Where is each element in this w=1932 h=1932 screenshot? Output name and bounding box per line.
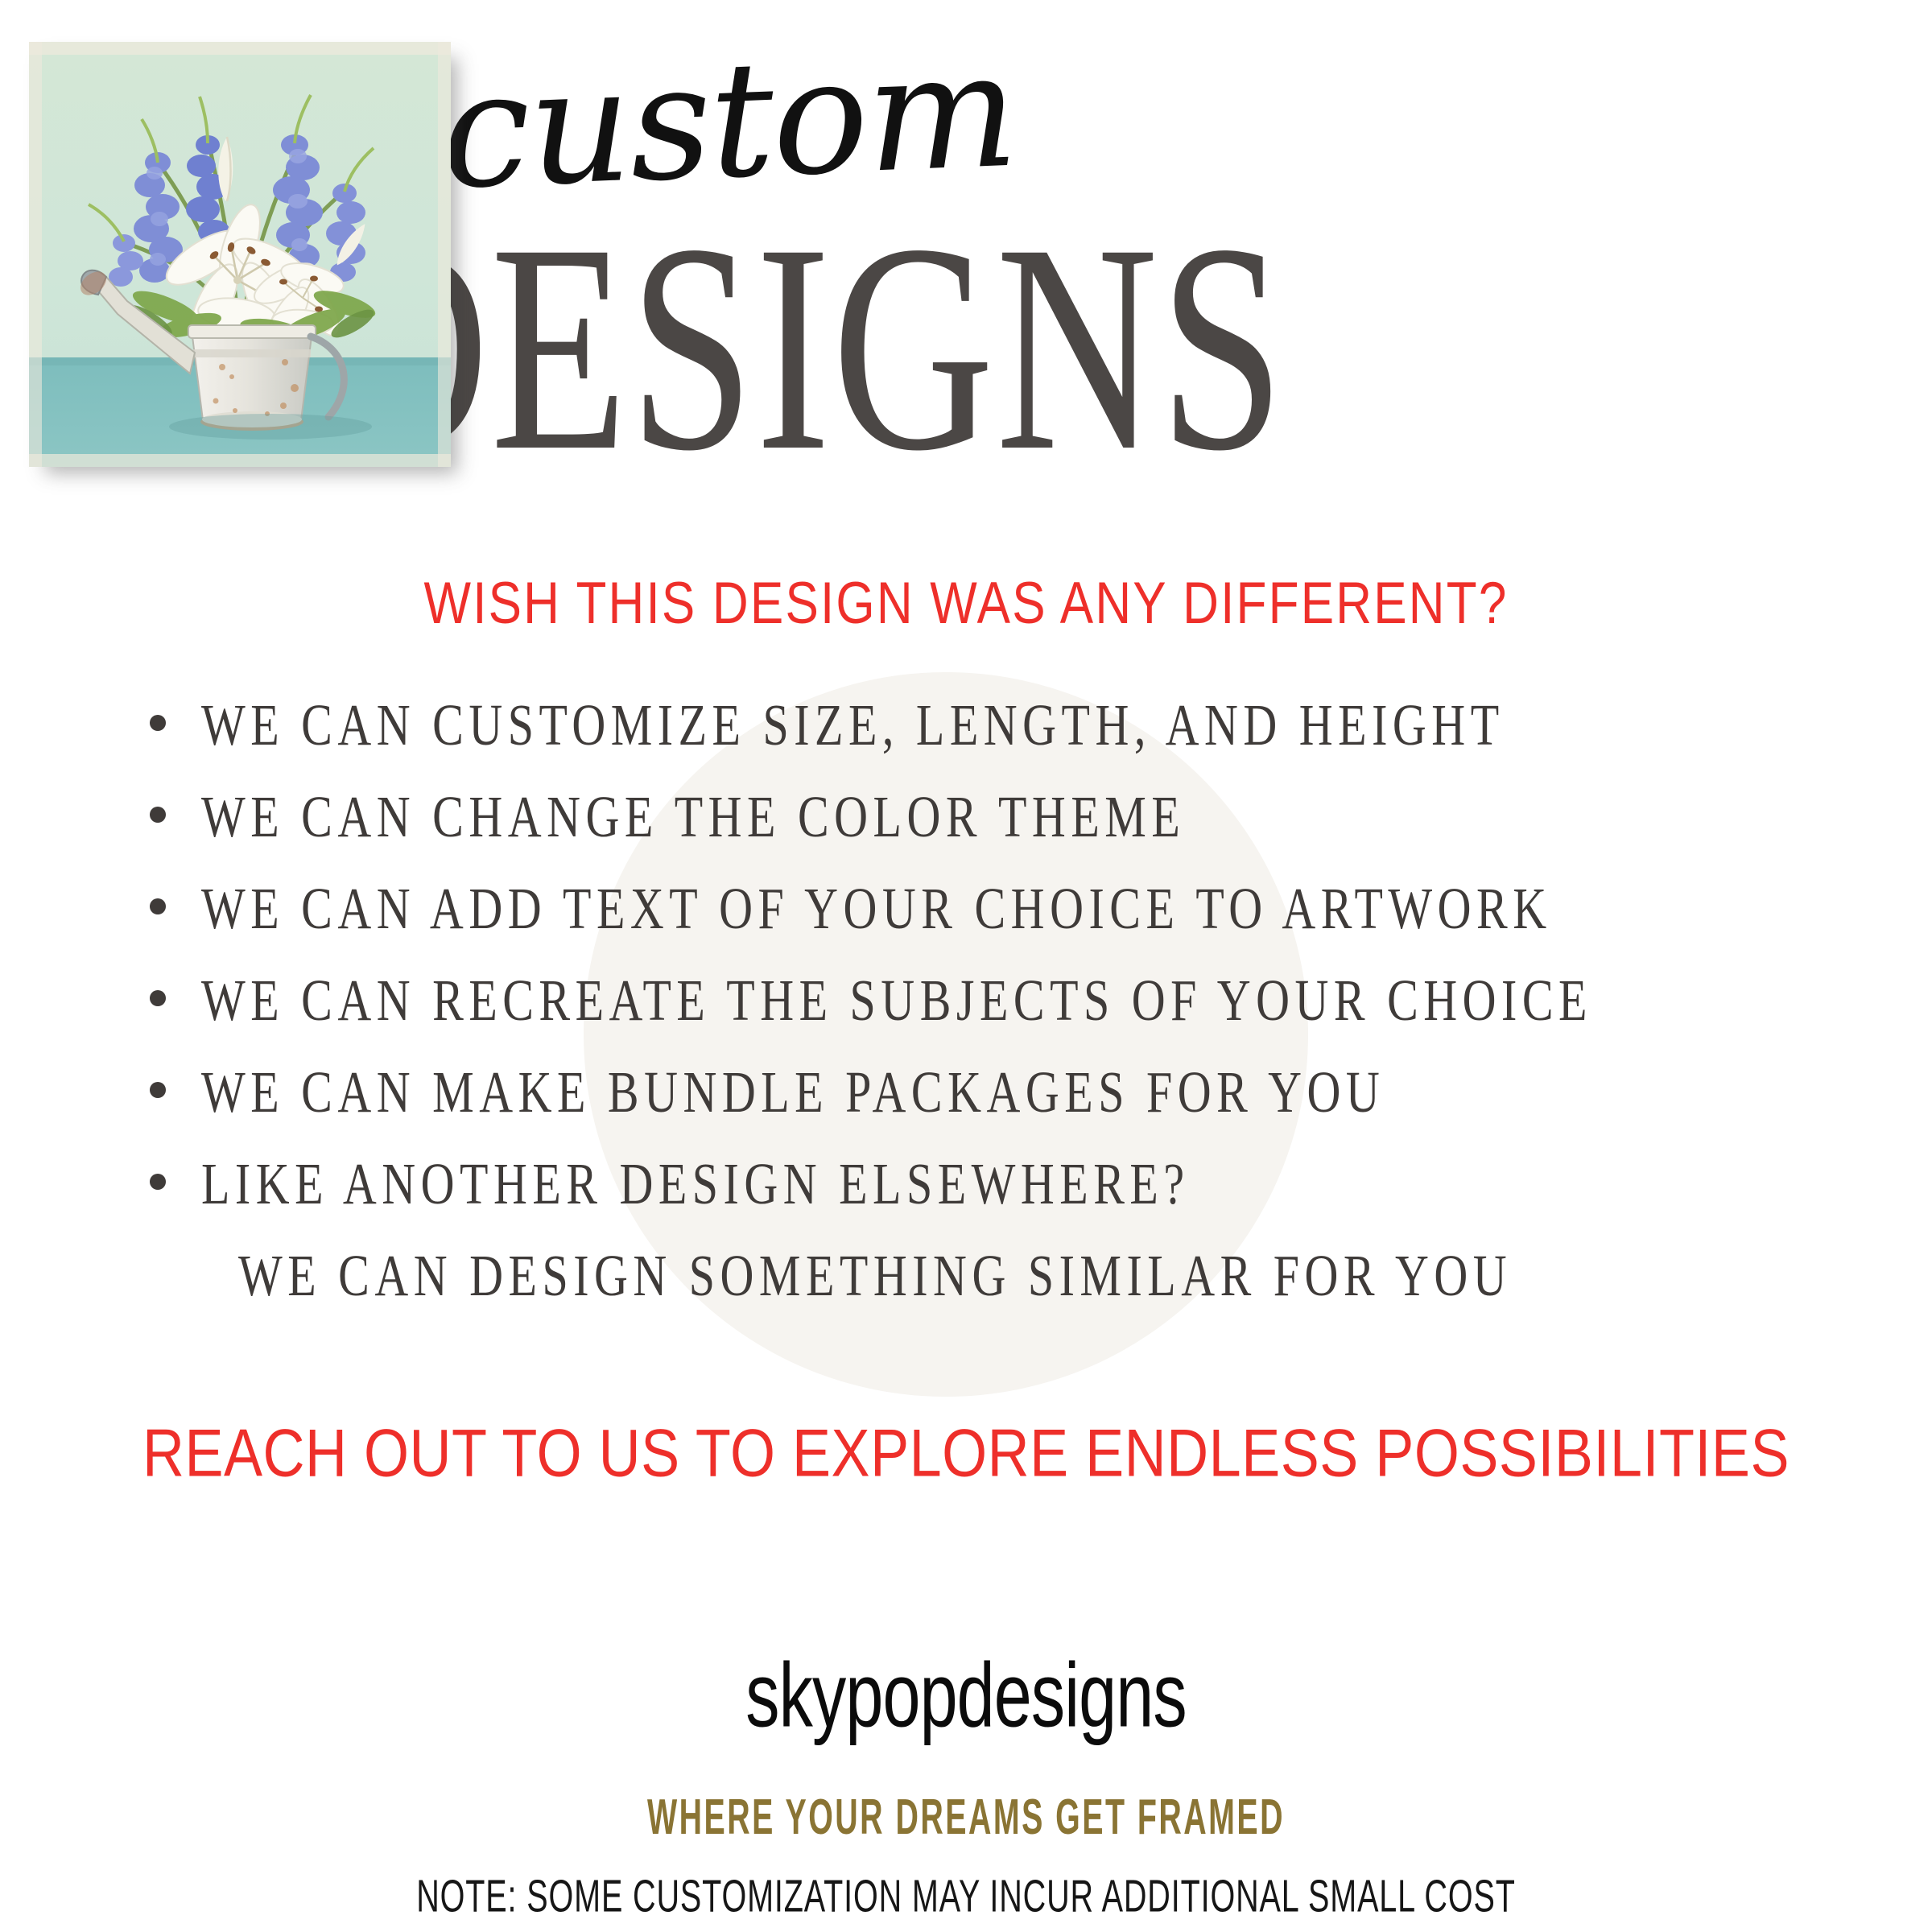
- list-item-label: WE CAN CUSTOMIZE SIZE, LENGTH, AND HEIGH…: [201, 696, 1505, 754]
- bullet-dot-icon: [150, 715, 166, 731]
- list-item: WE CAN ADD TEXT OF YOUR CHOICE TO ARTWOR…: [150, 885, 1856, 977]
- bullet-dot-icon: [150, 1082, 166, 1098]
- bullet-dot-icon: [150, 807, 166, 823]
- footer-note: NOTE: SOME CUSTOMIZATION MAY INCUR ADDIT…: [135, 1869, 1797, 1922]
- list-item: WE CAN RECREATE THE SUBJECTS OF YOUR CHO…: [150, 977, 1856, 1069]
- customization-options-list: WE CAN CUSTOMIZE SIZE, LENGTH, AND HEIGH…: [150, 702, 1856, 1352]
- brand-logo-wordmark: skypopdesigns: [116, 1644, 1816, 1748]
- artwork-thumbnail: [29, 42, 451, 467]
- bullet-dot-icon: [150, 898, 166, 914]
- list-item-label: WE CAN ADD TEXT OF YOUR CHOICE TO ARTWOR…: [201, 879, 1552, 938]
- page-title: DESIGNS: [327, 211, 1286, 485]
- subtitle-question: WISH THIS DESIGN WAS ANY DIFFERENT?: [0, 570, 1932, 638]
- bullet-dot-icon: [150, 1174, 166, 1190]
- list-item: LIKE ANOTHER DESIGN ELSEWHERE?: [150, 1161, 1856, 1253]
- list-item: WE CAN CUSTOMIZE SIZE, LENGTH, AND HEIGH…: [150, 702, 1856, 794]
- watering-can-floral-painting-icon: [29, 42, 451, 467]
- list-item-label: WE CAN RECREATE THE SUBJECTS OF YOUR CHO…: [201, 971, 1592, 1030]
- list-item: WE CAN CHANGE THE COLOR THEME: [150, 794, 1856, 885]
- list-item-label: WE CAN CHANGE THE COLOR THEME: [201, 787, 1185, 846]
- artwork-painting: [29, 42, 451, 467]
- headline-block: custom DESIGNS: [322, 56, 1851, 410]
- call-to-action-text: REACH OUT TO US TO EXPLORE ENDLESS POSSI…: [0, 1415, 1932, 1492]
- custom-designs-poster: custom DESIGNS WISH THIS DESIGN WAS ANY …: [0, 0, 1932, 1932]
- list-item-label: LIKE ANOTHER DESIGN ELSEWHERE?: [201, 1154, 1190, 1213]
- bullet-dot-icon: [150, 990, 166, 1006]
- list-item-label: WE CAN MAKE BUNDLE PACKAGES FOR YOU: [201, 1063, 1385, 1121]
- brand-tagline: WHERE YOUR DREAMS GET FRAMED: [174, 1789, 1758, 1847]
- list-item-continuation: WE CAN DESIGN SOMETHING SIMILAR FOR YOU: [150, 1253, 1856, 1352]
- list-item: WE CAN MAKE BUNDLE PACKAGES FOR YOU: [150, 1069, 1856, 1161]
- list-item-label: WE CAN DESIGN SOMETHING SIMILAR FOR YOU: [238, 1246, 1512, 1305]
